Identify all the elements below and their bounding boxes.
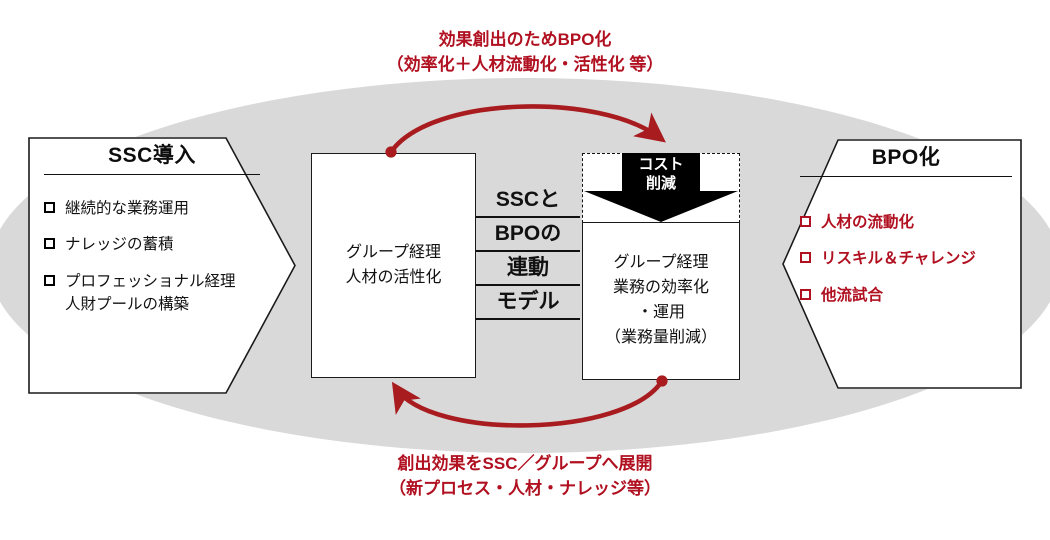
list-item: プロフェッショナル経理 人財プールの構築 (44, 270, 260, 317)
square-bullet-icon (800, 252, 811, 263)
list-item-label: 人材の流動化 (821, 211, 914, 234)
square-bullet-icon (44, 238, 55, 249)
left-card-divider (44, 174, 260, 175)
center-caption-line: モデル (476, 288, 580, 320)
left-card-title: SSC導入 (44, 144, 260, 167)
center-right-box: グループ経理 業務の効率化 ・運用 （業務量削減） (582, 222, 740, 380)
list-item: リスキル＆チャレンジ (800, 247, 1012, 270)
center-caption-line: 連動 (476, 254, 580, 286)
cost-reduction-label: コスト 削減 (582, 156, 740, 194)
square-bullet-icon (800, 289, 811, 300)
list-item-label: 継続的な業務運用 (65, 197, 189, 220)
cost-reduction-arrow: コスト 削減 (582, 153, 740, 223)
right-card-content: BPO化 人材の流動化 リスキル＆チャレンジ 他流試合 (800, 146, 1012, 320)
right-card-divider (800, 176, 1012, 177)
center-caption-line: SSCと (476, 186, 580, 218)
right-card-title: BPO化 (800, 146, 1012, 169)
square-bullet-icon (44, 275, 55, 286)
left-card-content: SSC導入 継続的な業務運用 ナレッジの蓄積 プロフェッショナル経理 人財プール… (44, 144, 260, 329)
list-item-label: 他流試合 (821, 284, 883, 307)
list-item-label: ナレッジの蓄積 (65, 233, 174, 256)
list-item: 人材の流動化 (800, 211, 1012, 234)
center-caption-line: BPOの (476, 220, 580, 252)
list-item: ナレッジの蓄積 (44, 233, 260, 256)
square-bullet-icon (800, 216, 811, 227)
list-item-label: リスキル＆チャレンジ (821, 247, 976, 270)
square-bullet-icon (44, 202, 55, 213)
center-caption: SSCと BPOの 連動 モデル (476, 186, 580, 322)
list-item-label: プロフェッショナル経理 人財プールの構築 (65, 270, 236, 317)
list-item: 継続的な業務運用 (44, 197, 260, 220)
right-card-bullet-list: 人材の流動化 リスキル＆チャレンジ 他流試合 (800, 211, 1012, 307)
annotation-bottom: 創出効果をSSC／グループへ展開 （新プロセス・人材・ナレッジ等） (0, 452, 1050, 501)
left-card-bullet-list: 継続的な業務運用 ナレッジの蓄積 プロフェッショナル経理 人財プールの構築 (44, 197, 260, 316)
annotation-top: 効果創出のためBPO化 （効率化＋人材流動化・活性化 等） (0, 28, 1050, 77)
center-left-box: グループ経理 人材の活性化 (311, 153, 476, 378)
diagram-canvas: SSC導入 継続的な業務運用 ナレッジの蓄積 プロフェッショナル経理 人財プール… (0, 0, 1050, 540)
list-item: 他流試合 (800, 284, 1012, 307)
